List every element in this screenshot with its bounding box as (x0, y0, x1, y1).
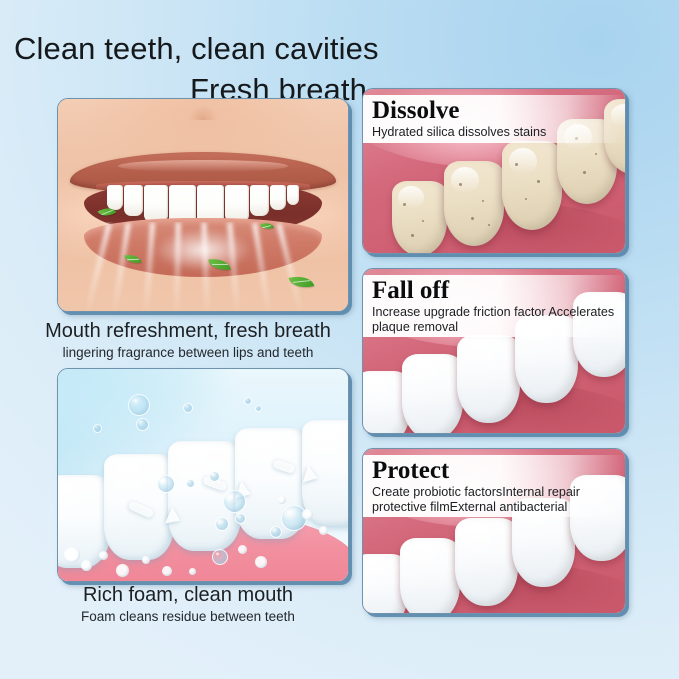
protect-illustration: Protect Create probiotic factorsInternal… (363, 449, 625, 613)
headline-line-1: Clean teeth, clean cavities (14, 28, 379, 69)
caption-mouth-refreshment: Mouth refreshment, fresh breath lingerin… (28, 319, 348, 362)
smile-photo (58, 99, 348, 311)
caption-title: Rich foam, clean mouth (28, 583, 348, 608)
product-infographic: Clean teeth, clean cavities Fresh breath (0, 0, 679, 679)
caption-title: Mouth refreshment, fresh breath (28, 319, 348, 344)
breath-streaks (87, 222, 319, 311)
panel-mouth-refreshment-image (57, 98, 349, 312)
fall-off-illustration: Fall off Increase upgrade friction facto… (363, 269, 625, 433)
caption-rich-foam: Rich foam, clean mouth Foam cleans resid… (28, 583, 348, 626)
caption-subtitle: Foam cleans residue between teeth (28, 608, 348, 626)
dissolve-illustration: Dissolve Hydrated silica dissolves stain… (363, 89, 625, 253)
foam-illustration (58, 369, 348, 581)
panel-rich-foam-image (57, 368, 349, 582)
panel-fall-off: Fall off Increase upgrade friction facto… (362, 268, 626, 434)
panel-protect: Protect Create probiotic factorsInternal… (362, 448, 626, 614)
caption-subtitle: lingering fragrance between lips and tee… (28, 344, 348, 362)
panel-dissolve: Dissolve Hydrated silica dissolves stain… (362, 88, 626, 254)
